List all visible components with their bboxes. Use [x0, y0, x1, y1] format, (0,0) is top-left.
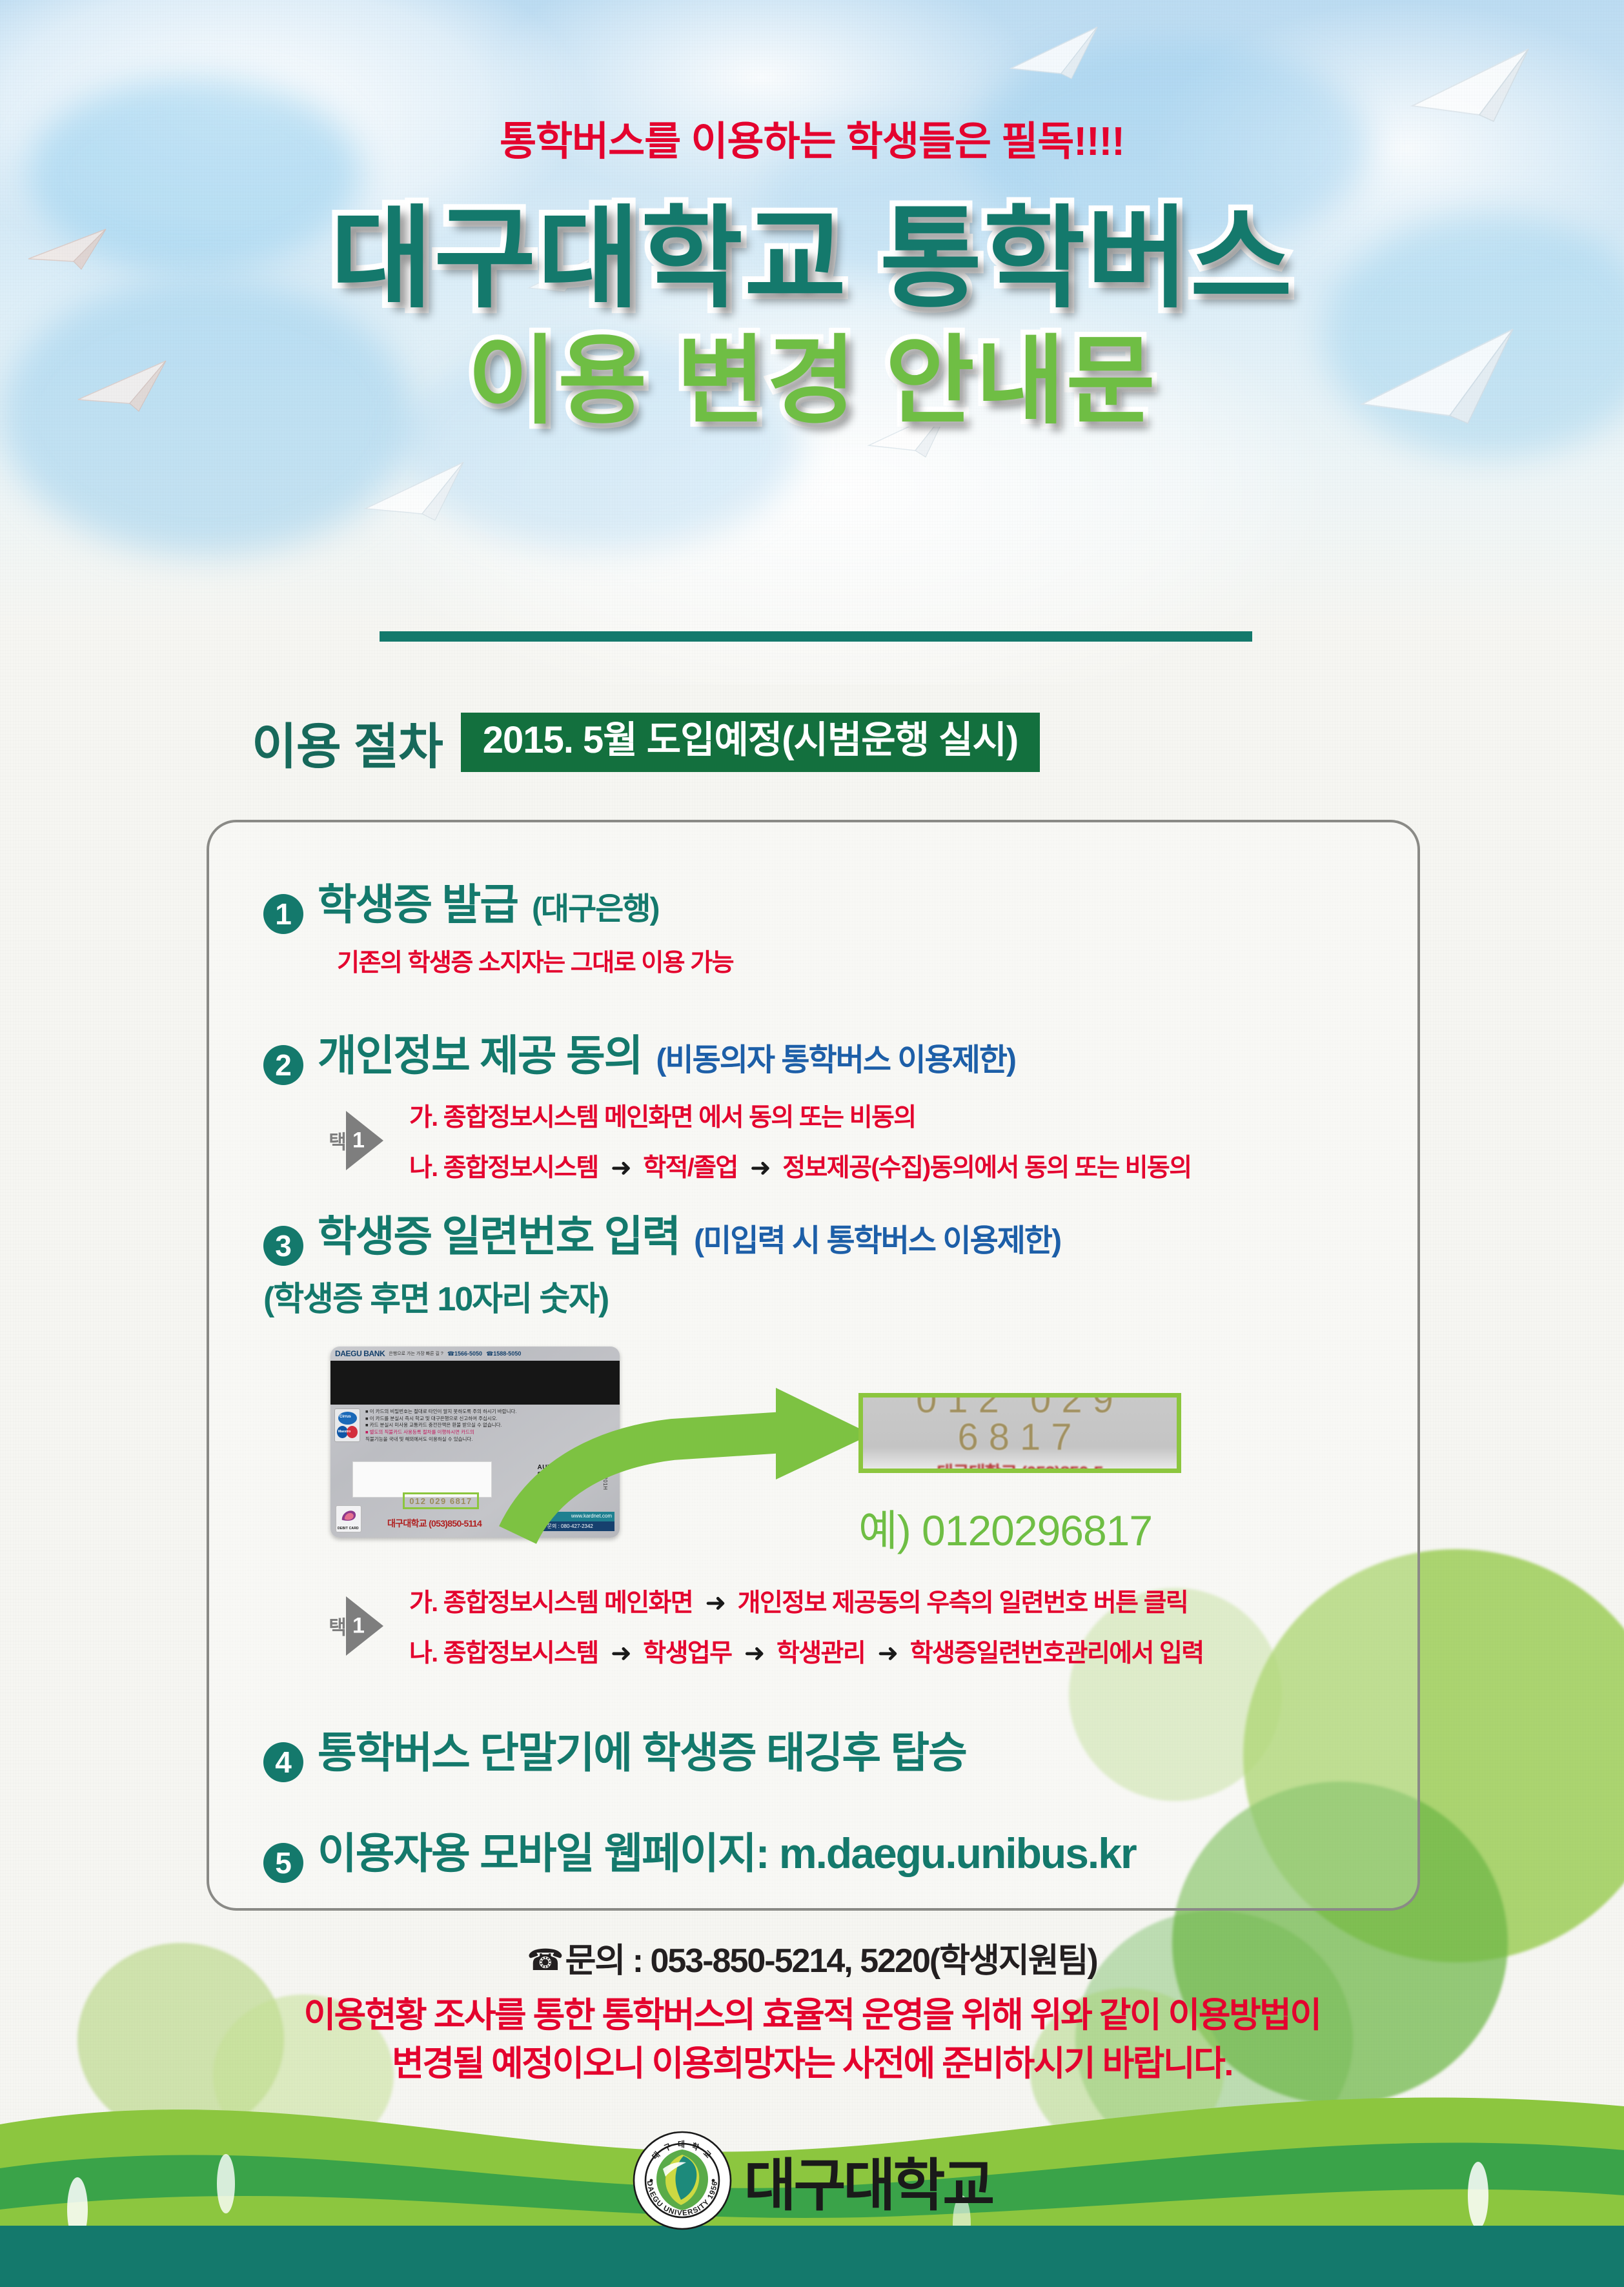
serial-example-text: 예) 0120296817: [858, 1496, 1152, 1558]
step-2-option-a: 가. 종합정보시스템 메인화면 에서 동의 또는 비동의: [409, 1097, 1191, 1133]
arrow-icon: ➜: [871, 1639, 904, 1668]
university-name: 대구대학교: [744, 2140, 993, 2222]
step-3-a-part-0: 가. 종합정보시스템 메인화면: [409, 1589, 693, 1617]
notice-block: 이용현황 조사를 통한 통학버스의 효율적 운영을 위해 위와 같이 이용방법이…: [155, 1991, 1469, 2088]
arrow-icon: ➜: [604, 1154, 637, 1183]
notice-line-2: 변경될 예정이오니 이용희망자는 사전에 준비하시기 바랍니다.: [155, 2040, 1469, 2088]
kicker-text: 통학버스를 이용하는 학생들은 필독!!!!: [0, 108, 1624, 167]
card-bank-name: DAEGU BANK: [335, 1349, 385, 1358]
step-5: 5 이용자용 모바일 웹페이지: m.daegu.unibus.kr: [263, 1819, 1136, 1881]
title-line-1: 대구대학교 통학버스: [0, 200, 1624, 318]
section-label: 이용 절차: [252, 707, 443, 778]
step-1-title: 학생증 발급: [318, 870, 518, 932]
debit-card-icon: DEBIT CARD: [336, 1505, 361, 1532]
step-5-number: 5: [263, 1843, 303, 1883]
title-line-2: 이용 변경 안내문: [0, 327, 1624, 435]
pick-number: 1: [352, 1614, 365, 1639]
telephone-icon: ☎: [527, 1943, 562, 1977]
step-3-option-a: 가. 종합정보시스템 메인화면 ➜ 개인정보 제공동의 우측의 일련번호 버튼 …: [409, 1583, 1204, 1619]
pick-label: 택: [325, 1617, 345, 1635]
step-2-paren: (비동의자 통학버스 이용제한): [656, 1034, 1015, 1079]
step-3-b-part-1: 학생업무: [643, 1640, 731, 1667]
poster-root: 통학버스를 이용하는 학생들은 필독!!!! 대구대학교 통학버스 이용 변경 …: [0, 0, 1624, 2287]
step-3-subtitle: (학생증 후면 10자리 숫자): [263, 1272, 1061, 1320]
pick-number: 1: [352, 1128, 365, 1154]
step-2: 2 개인정보 제공 동의 (비동의자 통학버스 이용제한) 택 1 가. 종합정…: [263, 1021, 1191, 1184]
step-2-number: 2: [263, 1045, 303, 1085]
step-1-paren: (대구은행): [532, 883, 659, 928]
step-4-number: 4: [263, 1742, 303, 1782]
pick-label: 택: [325, 1132, 345, 1150]
step-3-options: 택 1 가. 종합정보시스템 메인화면 ➜ 개인정보 제공동의 우측의 일련번호…: [325, 1583, 1204, 1669]
step-2-b-part-1: 학적/졸업: [643, 1154, 737, 1182]
pick-one-marker: 택 1: [325, 1596, 409, 1656]
step-2-b-part-0: 나. 종합정보시스템: [409, 1154, 598, 1182]
step-3: 3 학생증 일련번호 입력 (미입력 시 통학버스 이용제한) (학생증 후면 …: [263, 1202, 1061, 1320]
step-3-title: 학생증 일련번호 입력: [318, 1202, 680, 1264]
card-phone-2: ☎1588-5050: [486, 1350, 521, 1357]
green-curved-arrow-icon: [445, 1372, 891, 1547]
pick-one-marker: 택 1: [325, 1111, 409, 1170]
step-2-option-b: 나. 종합정보시스템 ➜ 학적/졸업 ➜ 정보제공(수집)동의에서 동의 또는 …: [409, 1148, 1191, 1184]
schedule-badge: 2015. 5월 도입예정(시범운행 실시): [461, 713, 1040, 772]
step-1-number: 1: [263, 894, 303, 934]
step-5-title: 이용자용 모바일 웹페이지: m.daegu.unibus.kr: [318, 1819, 1136, 1881]
arrow-icon: ➜: [604, 1639, 637, 1668]
step-2-b-part-2: 정보제공(수집)동의에서 동의 또는 비동의: [782, 1154, 1191, 1182]
step-2-title: 개인정보 제공 동의: [318, 1021, 642, 1083]
step-3-b-part-0: 나. 종합정보시스템: [409, 1640, 598, 1667]
arrow-icon: ➜: [744, 1154, 776, 1183]
step-3-b-part-3: 학생증일련번호관리에서 입력: [910, 1640, 1204, 1667]
step-3-paren: (미입력 시 통학버스 이용제한): [694, 1215, 1061, 1260]
poster-title: 대구대학교 통학버스 이용 변경 안내문: [0, 200, 1624, 435]
poster-content: 통학버스를 이용하는 학생들은 필독!!!! 대구대학교 통학버스 이용 변경 …: [0, 0, 1624, 2287]
step-3-b-part-2: 학생관리: [776, 1640, 865, 1667]
serial-zoom-callout: 012 029 6817 대구대학교 (053)850-5: [858, 1393, 1181, 1473]
card-bank-tagline: 은행으로 가는 가장 빠른 길 ?: [389, 1350, 443, 1357]
arrow-icon: ➜: [738, 1639, 771, 1668]
title-divider: [380, 631, 1252, 642]
contact-text: 문의 : 053-850-5214, 5220(학생지원팀): [565, 1942, 1097, 1980]
debit-card-label: DEBIT CARD: [338, 1527, 359, 1530]
section-header: 이용 절차 2015. 5월 도입예정(시범운행 실시): [252, 707, 1040, 778]
zoom-serial-number: 012 029 6817: [863, 1393, 1177, 1456]
zoom-serial-underline-text: 대구대학교 (053)850-5: [863, 1459, 1177, 1473]
pick-triangle-icon: 1: [346, 1111, 383, 1170]
card-phone-1: ☎1566-5050: [447, 1350, 482, 1357]
step-1-note: 기존의 학생증 소지자는 그대로 이용 가능: [337, 942, 733, 978]
notice-line-1: 이용현황 조사를 통한 통학버스의 효율적 운영을 위해 위와 같이 이용방법이: [155, 1991, 1469, 2040]
university-brand-bar: 대 구 대 학 교 DAEGU UNIVERSITY 1956 대구대학교: [0, 2130, 1624, 2231]
step-3-number: 3: [263, 1226, 303, 1266]
contact-line: ☎문의 : 053-850-5214, 5220(학생지원팀): [0, 1933, 1624, 1982]
daegu-university-logo-icon: 대 구 대 학 교 DAEGU UNIVERSITY 1956: [632, 2130, 733, 2231]
arrow-icon: ➜: [698, 1589, 731, 1618]
pick-triangle-icon: 1: [346, 1596, 383, 1656]
step-3-a-part-1: 개인정보 제공동의 우측의 일련번호 버튼 클릭: [738, 1589, 1188, 1617]
step-3-option-b: 나. 종합정보시스템 ➜ 학생업무 ➜ 학생관리 ➜ 학생증일련번호관리에서 입…: [409, 1633, 1204, 1669]
step-4-title: 통학버스 단말기에 학생증 태깅후 탑승: [318, 1718, 966, 1780]
card-header: DAEGU BANK 은행으로 가는 가장 빠른 길 ? ☎1566-5050 …: [330, 1347, 620, 1361]
step-1: 1 학생증 발급 (대구은행) 기존의 학생증 소지자는 그대로 이용 가능: [263, 870, 733, 978]
step-4: 4 통학버스 단말기에 학생증 태깅후 탑승: [263, 1718, 966, 1780]
